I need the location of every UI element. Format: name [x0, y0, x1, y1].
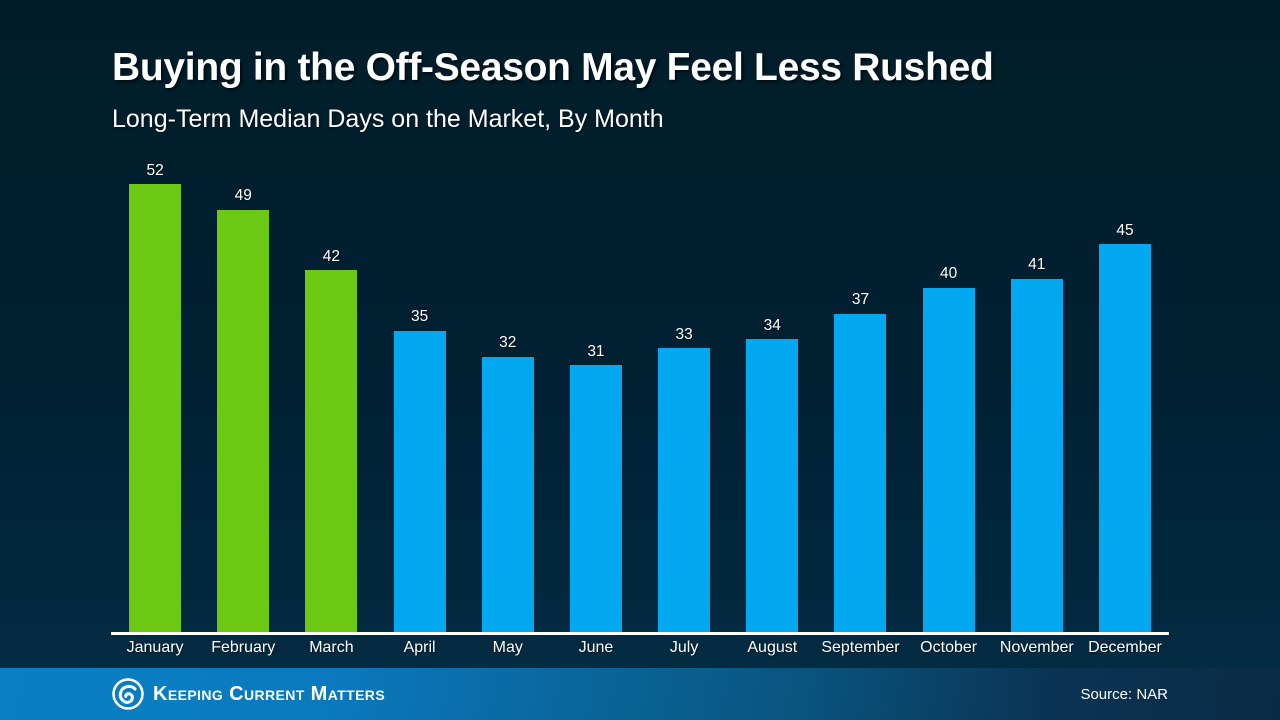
- bar-chart-plot-area: 524942353231333437404145: [111, 160, 1169, 633]
- bar[interactable]: [746, 339, 798, 633]
- bar-value-label: 37: [852, 292, 869, 308]
- footer-bar: Keeping Current Matters Source: NAR: [0, 668, 1280, 720]
- bar-value-label: 52: [146, 163, 163, 179]
- bar[interactable]: [658, 348, 710, 633]
- bar-value-label: 31: [587, 344, 604, 360]
- x-axis-tick-label: April: [376, 639, 464, 657]
- x-axis-tick-labels: JanuaryFebruaryMarchAprilMayJuneJulyAugu…: [111, 639, 1169, 657]
- source-label: Source: NAR: [1080, 686, 1168, 703]
- bar-series: 524942353231333437404145: [111, 160, 1169, 633]
- bar-slot[interactable]: 37: [816, 160, 904, 633]
- bar[interactable]: [482, 357, 534, 633]
- bar[interactable]: [570, 365, 622, 633]
- brand-name: Keeping Current Matters: [153, 683, 385, 706]
- x-axis-tick-label: October: [905, 639, 993, 657]
- x-axis-tick-label: January: [111, 639, 199, 657]
- bar-slot[interactable]: 33: [640, 160, 728, 633]
- x-axis-tick-label: November: [993, 639, 1081, 657]
- x-axis-tick-label: March: [287, 639, 375, 657]
- page-title: Buying in the Off-Season May Feel Less R…: [112, 46, 994, 90]
- bar-value-label: 42: [323, 249, 340, 265]
- x-axis-tick-label: July: [640, 639, 728, 657]
- bar-slot[interactable]: 41: [993, 160, 1081, 633]
- page-subtitle: Long-Term Median Days on the Market, By …: [112, 105, 664, 134]
- bar-slot[interactable]: 31: [552, 160, 640, 633]
- bar-slot[interactable]: 49: [199, 160, 287, 633]
- bar[interactable]: [129, 184, 181, 633]
- bar-value-label: 33: [675, 327, 692, 343]
- brand-lockup: Keeping Current Matters: [112, 678, 385, 710]
- x-axis-tick-label: June: [552, 639, 640, 657]
- bar[interactable]: [1011, 279, 1063, 633]
- bar-slot[interactable]: 40: [905, 160, 993, 633]
- bar-value-label: 49: [235, 188, 252, 204]
- chart-slide: Buying in the Off-Season May Feel Less R…: [0, 0, 1280, 720]
- bar-value-label: 32: [499, 335, 516, 351]
- x-axis-line: [111, 632, 1169, 635]
- x-axis-tick-label: May: [464, 639, 552, 657]
- bar-value-label: 45: [1116, 223, 1133, 239]
- bar[interactable]: [394, 331, 446, 633]
- bar-value-label: 34: [764, 318, 781, 334]
- x-axis-tick-label: December: [1081, 639, 1169, 657]
- bar[interactable]: [305, 270, 357, 633]
- x-axis-tick-label: February: [199, 639, 287, 657]
- bar-slot[interactable]: 45: [1081, 160, 1169, 633]
- bar-slot[interactable]: 42: [287, 160, 375, 633]
- bar[interactable]: [923, 288, 975, 633]
- bar-value-label: 40: [940, 266, 957, 282]
- x-axis-tick-label: September: [816, 639, 904, 657]
- bar-value-label: 41: [1028, 257, 1045, 273]
- spiral-circle-logo-icon: [112, 678, 144, 710]
- bar[interactable]: [1099, 244, 1151, 633]
- bar-slot[interactable]: 34: [728, 160, 816, 633]
- x-axis-tick-label: August: [728, 639, 816, 657]
- bar-slot[interactable]: 32: [464, 160, 552, 633]
- bar-slot[interactable]: 52: [111, 160, 199, 633]
- bar-value-label: 35: [411, 309, 428, 325]
- bar-slot[interactable]: 35: [376, 160, 464, 633]
- bar[interactable]: [834, 314, 886, 633]
- bar[interactable]: [217, 210, 269, 633]
